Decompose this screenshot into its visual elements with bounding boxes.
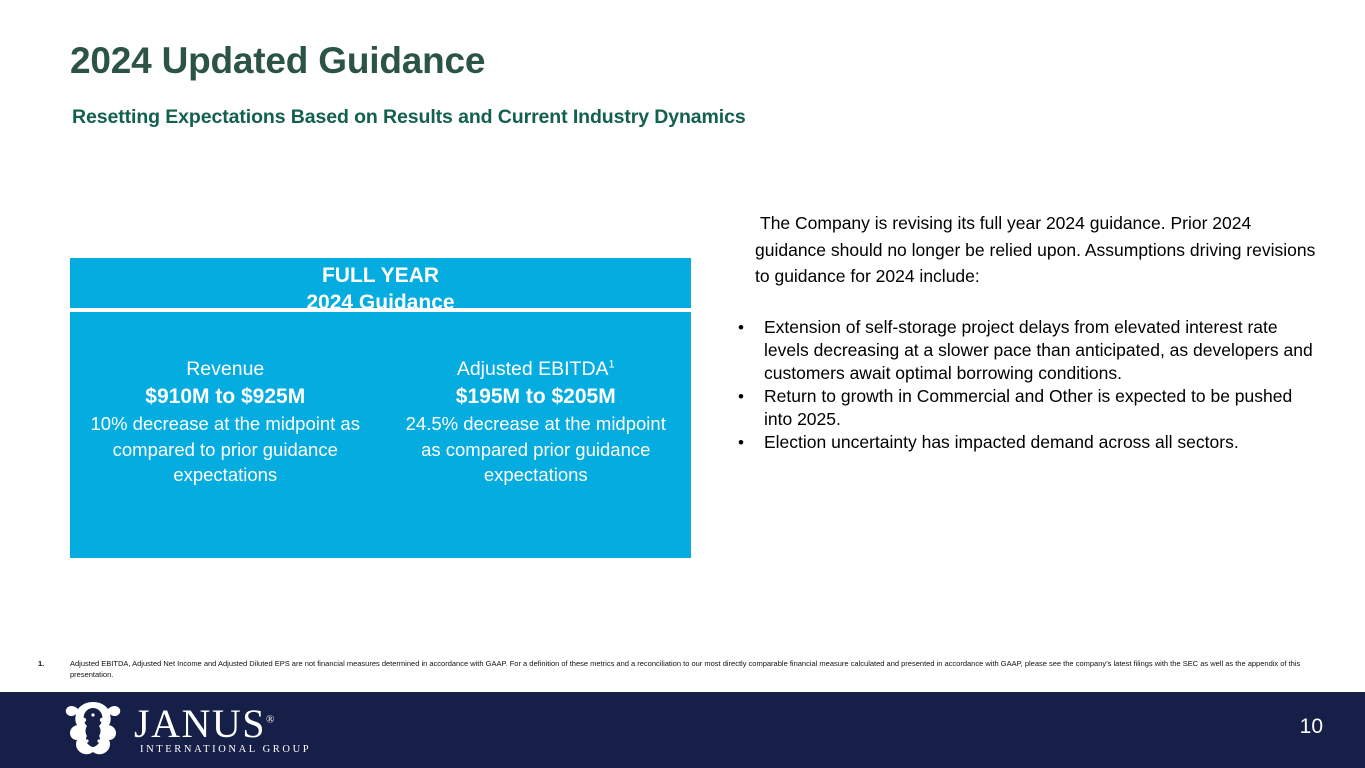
logo-name: JANUS® bbox=[134, 705, 311, 743]
footnote-number: 1. bbox=[38, 658, 70, 669]
list-item-text: Extension of self-storage project delays… bbox=[764, 316, 1320, 385]
page-title: 2024 Updated Guidance bbox=[70, 40, 485, 82]
list-item: • Extension of self-storage project dela… bbox=[730, 316, 1320, 385]
guidance-column-revenue: Revenue $910M to $925M 10% decrease at t… bbox=[70, 356, 381, 488]
bullet-point-icon: • bbox=[730, 431, 764, 454]
list-item-text: Return to growth in Commercial and Other… bbox=[764, 385, 1320, 431]
list-item: • Election uncertainty has impacted dema… bbox=[730, 431, 1320, 454]
list-item: • Return to growth in Commercial and Oth… bbox=[730, 385, 1320, 431]
bullet-point-icon: • bbox=[730, 385, 764, 408]
guidance-column-value: $195M to $205M bbox=[395, 383, 678, 411]
assumptions-bullet-list: • Extension of self-storage project dela… bbox=[730, 316, 1320, 454]
bullet-point-icon: • bbox=[730, 316, 764, 339]
guidance-column-label: Adjusted EBITDA1 bbox=[395, 356, 678, 383]
guidance-columns: Revenue $910M to $925M 10% decrease at t… bbox=[70, 312, 691, 488]
guidance-column-label-text: Revenue bbox=[186, 358, 264, 380]
guidance-column-label: Revenue bbox=[84, 356, 367, 383]
guidance-box: FULL YEAR 2024 Guidance Revenue $910M to… bbox=[70, 258, 691, 558]
footnote-text: Adjusted EBITDA, Adjusted Net Income and… bbox=[70, 658, 1338, 680]
guidance-column-value: $910M to $925M bbox=[84, 383, 367, 411]
logo-name-text: JANUS bbox=[134, 701, 266, 746]
list-item-text: Election uncertainty has impacted demand… bbox=[764, 431, 1320, 454]
guidance-column-note: 24.5% decrease at the midpoint as compar… bbox=[395, 411, 678, 488]
narrative-intro-paragraph: The Company is revising its full year 20… bbox=[755, 210, 1320, 290]
guidance-header-full-year: FULL YEAR bbox=[70, 263, 691, 289]
guidance-column-note: 10% decrease at the midpoint as compared… bbox=[84, 411, 367, 488]
guidance-box-header: FULL YEAR 2024 Guidance bbox=[70, 258, 691, 312]
janus-logo: JANUS® INTERNATIONAL GROUP bbox=[62, 700, 311, 758]
page-subtitle: Resetting Expectations Based on Results … bbox=[72, 106, 746, 129]
janus-wordmark: JANUS® INTERNATIONAL GROUP bbox=[134, 705, 311, 755]
logo-tagline: INTERNATIONAL GROUP bbox=[134, 744, 311, 755]
page-number: 10 bbox=[1300, 715, 1323, 739]
guidance-column-label-text: Adjusted EBITDA bbox=[457, 358, 609, 380]
narrative-panel: The Company is revising its full year 20… bbox=[755, 210, 1320, 454]
janus-two-faced-emblem-icon bbox=[62, 700, 124, 758]
footnote: 1. Adjusted EBITDA, Adjusted Net Income … bbox=[38, 658, 1338, 680]
footnote-marker: 1 bbox=[609, 359, 615, 371]
guidance-column-adjusted-ebitda: Adjusted EBITDA1 $195M to $205M 24.5% de… bbox=[381, 356, 692, 488]
registered-mark: ® bbox=[266, 714, 276, 726]
